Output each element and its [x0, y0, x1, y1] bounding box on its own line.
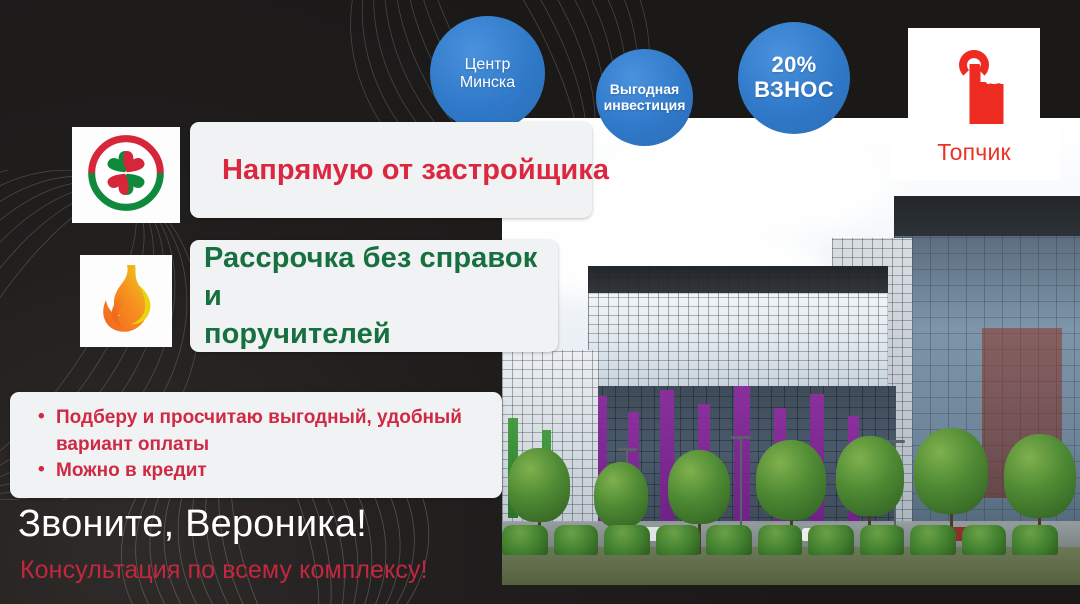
tree: [914, 428, 988, 514]
flame-icon: [94, 263, 158, 340]
cta-subline: Консультация по всему комплексу!: [20, 556, 428, 585]
tree: [836, 436, 904, 516]
main-block-upper: [588, 293, 888, 388]
badge-line-1: Выгодная: [604, 82, 686, 98]
tree: [1004, 434, 1076, 518]
card-installment-plan: Рассрочка без справок и поручителей: [190, 240, 558, 352]
badge-vygodnaya-investiciya[interactable]: Выгодная инвестиция: [596, 49, 693, 146]
hedge: [706, 525, 752, 555]
hedge: [554, 525, 598, 555]
headline-direct-from-developer: Напрямую от застройщика: [190, 154, 609, 187]
badge-line-1: Центр: [460, 56, 515, 74]
clover-icon-tile: [72, 127, 180, 223]
benefits-list: Подберу и просчитаю выгодный, удобный ва…: [10, 405, 502, 486]
tree: [668, 450, 730, 524]
hedge: [962, 525, 1006, 555]
list-item: Подберу и просчитаю выгодный, удобный ва…: [38, 405, 502, 459]
hedge: [656, 525, 700, 555]
brand-name: Топчик: [937, 139, 1011, 166]
hedge: [808, 525, 854, 555]
tree: [594, 462, 648, 528]
card-direct-from-developer: Напрямую от застройщика: [190, 122, 592, 218]
main-block-cornice: [588, 266, 888, 296]
tree: [508, 448, 570, 522]
headline-installment-line-2: поручителей: [204, 315, 558, 353]
cta-headline: Звоните, Вероника!: [18, 503, 367, 546]
hedge: [604, 525, 650, 555]
hedge: [758, 525, 802, 555]
badge-20-percent-vznos[interactable]: 20% ВЗНОС: [738, 22, 850, 134]
pointing-hand-icon: [944, 46, 1004, 137]
tree: [756, 440, 826, 520]
hedge: [502, 525, 548, 555]
badge-line-1: 20%: [754, 53, 834, 78]
real-estate-ad-banner: Топчик Центр Минска Выгодная инвестиция …: [0, 0, 1080, 604]
flame-icon-tile: [80, 255, 172, 347]
hedge: [910, 525, 956, 555]
card-benefits-list: Подберу и просчитаю выгодный, удобный ва…: [10, 392, 502, 498]
badge-line-2: Минска: [460, 74, 515, 92]
headline-installment-line-1: Рассрочка без справок и: [204, 239, 558, 316]
clover-icon: [87, 134, 165, 217]
list-item: Можно в кредит: [38, 458, 502, 485]
badge-line-2: ВЗНОС: [754, 78, 834, 103]
headline-installment-plan: Рассрочка без справок и поручителей: [190, 239, 558, 354]
badge-center-minska[interactable]: Центр Минска: [430, 16, 545, 131]
tower-right-cornice: [894, 196, 1080, 236]
hedge: [1012, 525, 1058, 555]
badge-line-2: инвестиция: [604, 98, 686, 114]
hedge: [860, 525, 904, 555]
brand-logo: Топчик: [908, 46, 1040, 174]
